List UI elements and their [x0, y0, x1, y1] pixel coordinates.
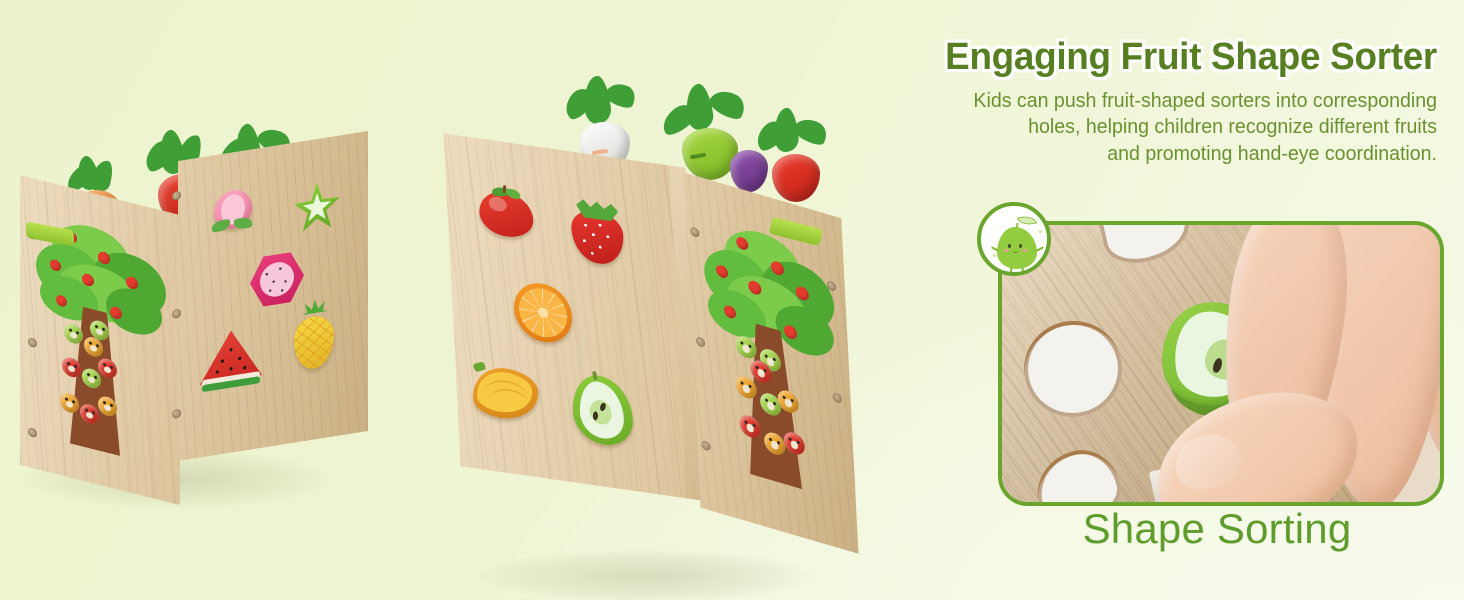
description-line-2: holes, helping children recognize differ…: [790, 114, 1437, 141]
apple-tree-graphic: [701, 216, 844, 508]
pear-eye: [1008, 244, 1011, 248]
pear-body: [997, 227, 1037, 269]
fruit-piece-peach[interactable]: [210, 187, 256, 238]
cube-shadow: [480, 550, 810, 600]
screw: [701, 440, 710, 452]
page-title: Engaging Fruit Shape Sorter: [780, 36, 1437, 79]
fruit-piece-orange-slice[interactable]: [513, 279, 574, 346]
screw: [172, 309, 181, 319]
pear-cheek: [1022, 249, 1027, 252]
photo-image: [1002, 225, 1440, 502]
apple-tree-graphic: [36, 209, 168, 472]
fruit-piece-strawberry[interactable]: [568, 197, 627, 267]
feature-caption: Shape Sorting: [998, 505, 1436, 553]
screw: [696, 336, 705, 348]
fruit-piece-star-fruit[interactable]: [294, 179, 340, 234]
caterpillar-bead: [64, 322, 83, 346]
description-paragraph: Kids can push fruit-shaped sorters into …: [790, 88, 1437, 168]
pear-leg: [1010, 268, 1013, 275]
promo-banner: Engaging Fruit Shape Sorter Kids can pus…: [0, 0, 1464, 600]
text-column: Engaging Fruit Shape Sorter Kids can pus…: [760, 36, 1437, 167]
pear-cheek: [1004, 249, 1009, 252]
pear-eye: [1019, 244, 1022, 248]
child-hand: [1210, 225, 1440, 502]
pear-character-icon: [977, 202, 1051, 276]
fruit-piece-watermelon[interactable]: [200, 326, 262, 392]
screw: [172, 191, 181, 201]
description-line-3: and promoting hand-eye coordination.: [790, 141, 1437, 168]
screw: [690, 226, 699, 238]
shape-sorting-photo-card: [998, 221, 1444, 506]
pear-leg: [1022, 268, 1025, 275]
fruit-piece-apple[interactable]: [478, 182, 535, 240]
cube-face-fruits: [178, 131, 368, 461]
fruit-piece-dragon-fruit[interactable]: [250, 249, 304, 310]
fruit-piece-pear[interactable]: [571, 368, 637, 451]
pear-mouth: [1013, 249, 1018, 253]
thumbnail: [1167, 425, 1248, 500]
fruit-piece-banana[interactable]: [471, 360, 542, 426]
cube-face-front-fruits: [444, 133, 703, 500]
screw: [172, 409, 181, 419]
fruit-piece-pineapple[interactable]: [290, 296, 338, 374]
pear-arm: [1036, 246, 1044, 252]
wooden-fruit-sorter-cube-left: [0, 60, 400, 500]
pear-leaf: [1017, 213, 1037, 229]
description-line-1: Kids can push fruit-shaped sorters into …: [790, 88, 1437, 115]
